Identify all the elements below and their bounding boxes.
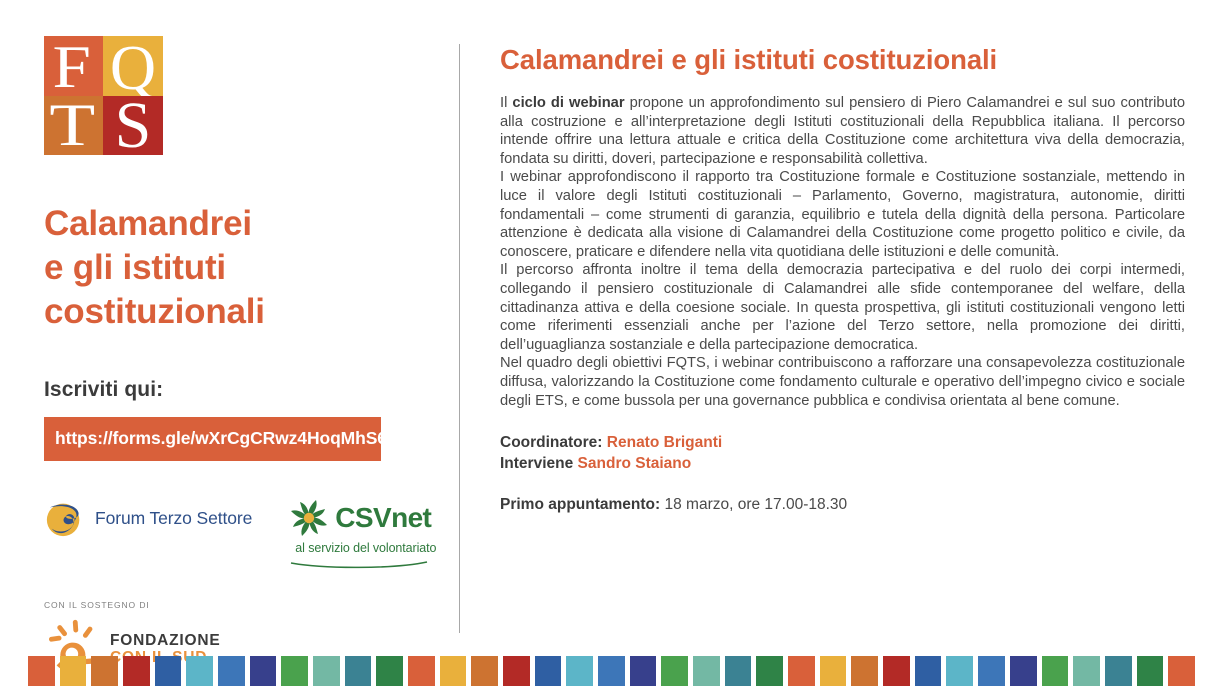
fqts-logo-cell-s: S [103, 96, 163, 155]
webinar-poster: F Q T S Calamandrei e gli istituti costi… [0, 0, 1217, 688]
color-swatch [535, 656, 562, 686]
color-swatch [598, 656, 625, 686]
appointment-label: Primo appuntamento: [500, 496, 660, 513]
fqts-logo-cell-f: F [44, 36, 103, 96]
color-swatch [566, 656, 593, 686]
paragraph-1: Il ciclo di webinar propone un approfond… [500, 94, 1185, 168]
color-swatch [1010, 656, 1037, 686]
paragraph-1-lead: Il [500, 95, 512, 111]
left-panel: F Q T S Calamandrei e gli istituti costi… [0, 0, 459, 650]
color-swatch [1105, 656, 1132, 686]
fondazione-support-kicker: CON IL SOSTEGNO DI [44, 600, 459, 610]
color-swatch [503, 656, 530, 686]
color-swatch [313, 656, 340, 686]
color-swatch [60, 656, 87, 686]
coordinator-name: Renato Briganti [607, 434, 722, 451]
paragraph-3: Il percorso affronta inoltre il tema del… [500, 261, 1185, 354]
color-swatch [661, 656, 688, 686]
csvnet-logo-top: CSVnet [289, 498, 436, 538]
color-swatch [883, 656, 910, 686]
poster-headline: Calamandrei e gli istituti costituzional… [44, 202, 404, 333]
color-swatch [630, 656, 657, 686]
color-swatch [725, 656, 752, 686]
color-swatch [851, 656, 878, 686]
color-swatch [1073, 656, 1100, 686]
speaker-name: Sandro Staiano [578, 455, 692, 472]
page-title: Calamandrei e gli istituti costituzional… [500, 44, 1185, 76]
fqts-letter-s: S [115, 96, 152, 155]
appointment-row: Primo appuntamento: 18 marzo, ore 17.00-… [500, 496, 1185, 514]
coordinator-label: Coordinatore: [500, 434, 602, 451]
csvnet-tagline: al servizio del volontariato [289, 541, 436, 555]
headline-line-2: e gli istituti [44, 246, 404, 290]
color-swatch [281, 656, 308, 686]
color-swatch [1137, 656, 1164, 686]
headline-line-3: costituzionali [44, 290, 404, 334]
color-swatch [693, 656, 720, 686]
color-swatch [978, 656, 1005, 686]
color-swatch [250, 656, 277, 686]
fqts-letter-q: Q [110, 36, 156, 96]
forum-terzo-settore-name: Forum Terzo Settore [95, 508, 252, 529]
forum-terzo-settore-swirl-icon [44, 497, 86, 539]
appointment-value: 18 marzo, ore 17.00-18.30 [664, 496, 847, 513]
color-swatch [440, 656, 467, 686]
color-swatch [1042, 656, 1069, 686]
credits-block: Coordinatore: Renato Briganti Interviene… [500, 433, 1185, 474]
color-swatch [788, 656, 815, 686]
color-swatch [1168, 656, 1195, 686]
color-swatch [345, 656, 372, 686]
signup-url-link[interactable]: https://forms.gle/wXrCgCRwz4HoqMhS6 [44, 417, 381, 461]
right-panel: Calamandrei e gli istituti costituzional… [500, 44, 1185, 514]
color-swatch [155, 656, 182, 686]
csvnet-pinwheel-icon [289, 498, 329, 538]
paragraph-1-bold: ciclo di webinar [512, 95, 624, 111]
color-swatch [28, 656, 55, 686]
color-swatch [820, 656, 847, 686]
color-swatch [376, 656, 403, 686]
signup-label: Iscriviti qui: [44, 378, 459, 402]
headline-line-1: Calamandrei [44, 202, 404, 246]
fqts-logo-cell-q: Q [103, 36, 163, 96]
csvnet-name: CSVnet [335, 504, 431, 532]
color-swatch [186, 656, 213, 686]
coordinator-row: Coordinatore: Renato Briganti [500, 433, 1185, 454]
color-swatch [471, 656, 498, 686]
color-swatch [946, 656, 973, 686]
footer-color-strip [0, 650, 1217, 688]
color-swatch [91, 656, 118, 686]
speaker-label: Interviene [500, 455, 573, 472]
color-swatch [756, 656, 783, 686]
csvnet-logo: CSVnet al servizio del volontariato [289, 497, 436, 574]
color-swatch [123, 656, 150, 686]
fqts-logo-cell-t: T [44, 96, 103, 155]
partner-logo-row: Forum Terzo Settore [44, 497, 459, 574]
color-swatch [408, 656, 435, 686]
color-swatch [218, 656, 245, 686]
speaker-row: Interviene Sandro Staiano [500, 454, 1185, 475]
paragraph-2: I webinar approfondiscono il rapporto tr… [500, 168, 1185, 261]
forum-terzo-settore-logo: Forum Terzo Settore [44, 497, 252, 539]
description-body: Il ciclo di webinar propone un approfond… [500, 94, 1185, 410]
fqts-logo: F Q T S [44, 36, 163, 155]
paragraph-4: Nel quadro degli obiettivi FQTS, i webin… [500, 354, 1185, 410]
column-divider [459, 44, 460, 633]
fqts-letter-f: F [52, 37, 90, 96]
fqts-letter-t: T [50, 96, 96, 155]
fondazione-line-1: FONDAZIONE [110, 632, 220, 649]
color-swatch [915, 656, 942, 686]
csvnet-underline-rule [289, 556, 436, 574]
